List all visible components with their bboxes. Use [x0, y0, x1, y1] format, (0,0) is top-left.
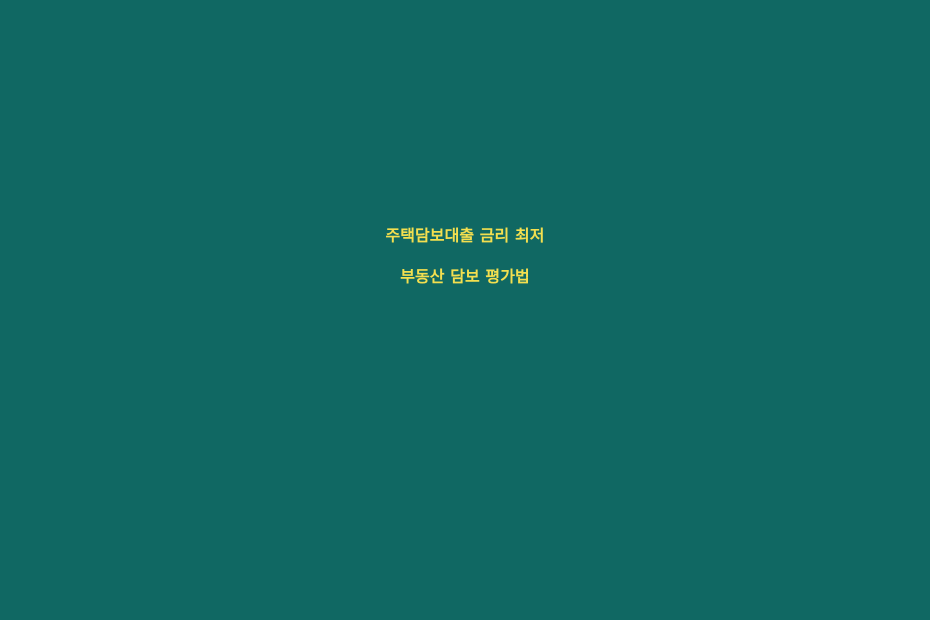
title-line-1: 주택담보대출 금리 최저 — [0, 228, 930, 245]
title-block: 주택담보대출 금리 최저 부동산 담보 평가법 — [0, 228, 930, 286]
banner-canvas: 주택담보대출 금리 최저 부동산 담보 평가법 — [0, 0, 930, 620]
title-line-2: 부동산 담보 평가법 — [0, 269, 930, 286]
